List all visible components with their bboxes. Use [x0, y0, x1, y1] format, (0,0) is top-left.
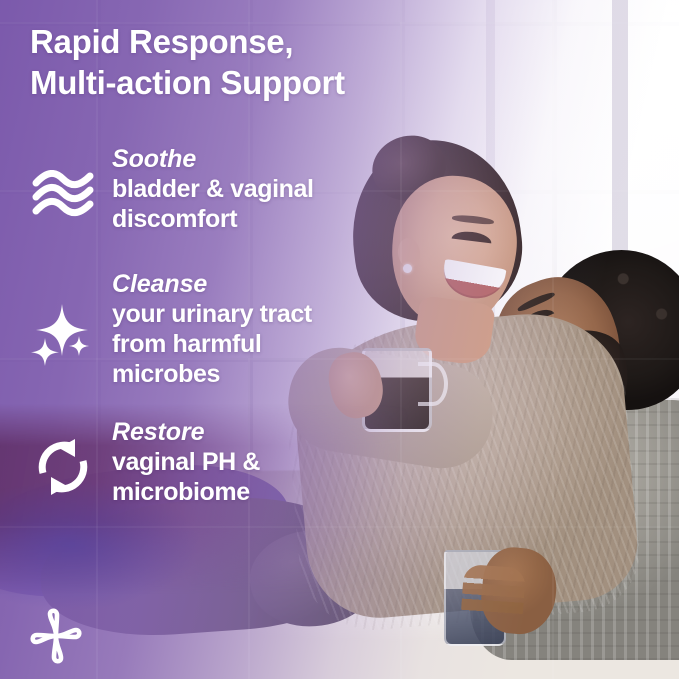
benefit-title: Soothe [112, 145, 314, 174]
benefit-description: your urinary tract from harmful microbes [112, 299, 312, 389]
sparkles-icon [28, 300, 98, 370]
refresh-cycle-icon [28, 432, 98, 502]
benefit-description: bladder & vaginal discomfort [112, 174, 314, 234]
benefit-item-cleanse: Cleanse your urinary tract from harmful … [28, 268, 312, 389]
promo-banner: Rapid Response, Multi-action Support Soo… [0, 0, 679, 679]
benefit-description: vaginal PH & microbiome [112, 447, 260, 507]
four-petal-flower-logo [30, 608, 82, 664]
benefit-title: Restore [112, 418, 260, 447]
waves-icon [28, 161, 98, 231]
benefit-item-soothe: Soothe bladder & vaginal discomfort [28, 143, 314, 234]
benefit-item-restore: Restore vaginal PH & microbiome [28, 416, 260, 507]
page-title: Rapid Response, Multi-action Support [30, 22, 500, 103]
benefit-title: Cleanse [112, 270, 312, 299]
